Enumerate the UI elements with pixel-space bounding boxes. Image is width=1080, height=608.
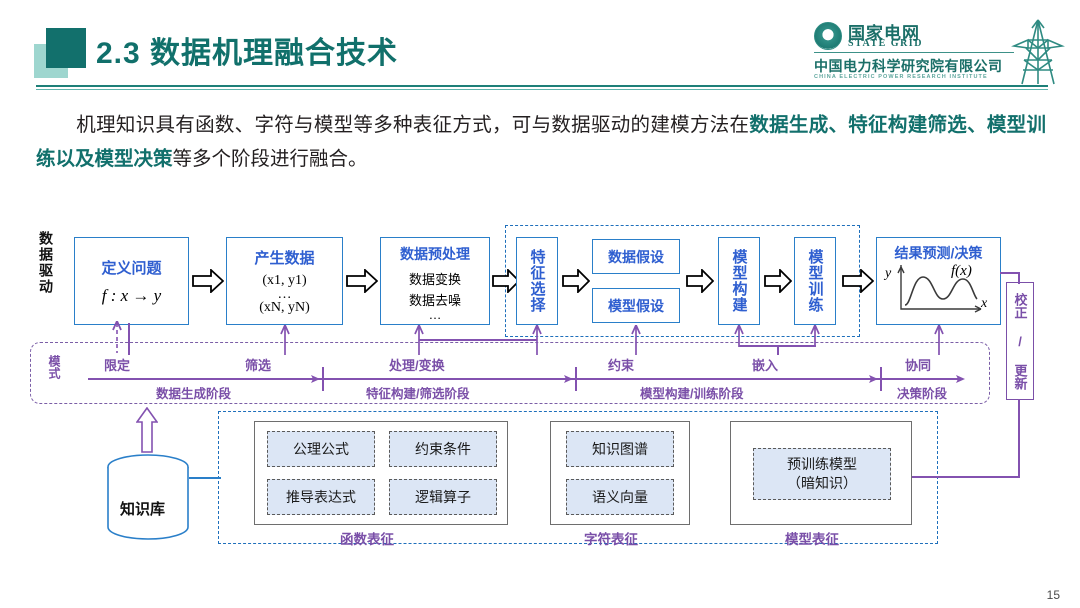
body-text-2: 等多个阶段进行融合。 bbox=[173, 148, 368, 170]
pipeline-box-define-problem[interactable]: 定义问题 f : x → y bbox=[74, 237, 189, 325]
stage-tick-3 bbox=[880, 367, 882, 391]
body-paragraph: 机理知识具有函数、字符与模型等多种表征方式，可与数据驱动的建模方法在数据生成、特… bbox=[36, 108, 1046, 176]
stage-tick-arrow-1 bbox=[307, 372, 321, 386]
knowledge-group-caption: 函数表征 bbox=[340, 528, 394, 548]
knowledge-group-function: 公理公式 约束条件 推导表达式 逻辑算子 bbox=[254, 421, 508, 525]
box-title: 产生数据 bbox=[254, 247, 314, 268]
chart-y-axis-label: y bbox=[885, 266, 891, 282]
title-accent-square-front bbox=[46, 28, 86, 68]
logo-org-en: CHINA ELECTRIC POWER RESEARCH INSTITUTE bbox=[814, 74, 988, 80]
mode-label: 模式 bbox=[46, 355, 63, 393]
body-text-1: 机理知识具有函数、字符与模型等多种表征方式，可与数据驱动的建模方法在 bbox=[76, 114, 749, 136]
title-divider-thin bbox=[36, 89, 1048, 90]
box-line-2: 数据去噪 bbox=[409, 290, 461, 309]
knowledge-group-symbol: 知识图谱 语义向量 bbox=[550, 421, 690, 525]
box-title: 结果预测/决策 bbox=[895, 245, 983, 261]
knowledge-group-caption: 模型表征 bbox=[785, 528, 839, 548]
pipeline-box-model-train[interactable]: 模型训练 bbox=[794, 237, 836, 325]
corporate-logo: 国家电网 STATE GRID 中国电力科学研究院有限公司 CHINA ELEC… bbox=[802, 20, 1072, 86]
pipeline-box-feature-selection[interactable]: 特征选择 bbox=[516, 237, 558, 325]
fusion-flow-diagram: 数据驱动 定义问题 f : x → y 产生数据 (x1, y1) … (xN,… bbox=[0, 215, 1080, 555]
flow-arrow-5 bbox=[686, 269, 714, 293]
pipeline-box-model-build[interactable]: 模型构建 bbox=[718, 237, 760, 325]
mode-action-1: 筛选 bbox=[245, 355, 271, 374]
pipeline-box-data-hypothesis[interactable]: 数据假设 bbox=[592, 239, 680, 274]
mode-arrow-generate-data bbox=[278, 325, 292, 355]
flow-arrow-6 bbox=[764, 269, 792, 293]
stage-tick-arrow-2 bbox=[560, 372, 574, 386]
feedback-label: 校正 / 更新 bbox=[1011, 293, 1030, 390]
stage-tick-arrow-3 bbox=[865, 372, 879, 386]
transmission-tower-icon bbox=[1010, 16, 1066, 88]
knowledge-item[interactable]: 约束条件 bbox=[389, 431, 497, 467]
knowledge-item[interactable]: 逻辑算子 bbox=[389, 479, 497, 515]
box-line-2: … bbox=[278, 290, 292, 299]
knowledge-to-pipeline-arrow bbox=[136, 407, 158, 453]
feedback-line-bottom-v bbox=[1018, 399, 1020, 477]
box-title: 数据预处理 bbox=[400, 244, 470, 264]
knowledge-store-connector bbox=[189, 477, 221, 479]
mode-stage-1: 特征构建/筛选阶段 bbox=[366, 383, 469, 402]
box-title: 模型构建 bbox=[729, 249, 750, 313]
logo-org-cn: 中国电力科学研究院有限公司 bbox=[814, 56, 1003, 76]
page-number: 15 bbox=[1047, 588, 1060, 602]
knowledge-item[interactable]: 公理公式 bbox=[267, 431, 375, 467]
flow-arrow-4 bbox=[562, 269, 590, 293]
mode-action-5: 协同 bbox=[905, 355, 931, 374]
mode-stage-3: 决策阶段 bbox=[897, 383, 947, 402]
box-title: 特征选择 bbox=[527, 249, 548, 313]
feedback-box-correct-update[interactable]: 校正 / 更新 bbox=[1006, 282, 1034, 400]
mode-arrow-define-problem bbox=[110, 321, 124, 353]
mode-stem-define bbox=[128, 323, 130, 355]
mode-action-3: 约束 bbox=[608, 355, 634, 374]
mode-action-2: 处理/变换 bbox=[389, 355, 445, 374]
knowledge-item[interactable]: 推导表达式 bbox=[267, 479, 375, 515]
knowledge-group-model: 预训练模型 （暗知识） bbox=[730, 421, 912, 525]
knowledge-item[interactable]: 语义向量 bbox=[566, 479, 674, 515]
pipeline-box-preprocess[interactable]: 数据预处理 数据变换 数据去噪 … bbox=[380, 237, 490, 325]
pipeline-box-prediction-decision[interactable]: 结果预测/决策 y f(x) x bbox=[876, 237, 1001, 325]
box-formula: f : x → y bbox=[102, 286, 161, 306]
body-highlight-1: 数据生成、特征构建 bbox=[749, 114, 927, 136]
feedback-line-bottom-h bbox=[905, 476, 1020, 478]
mode-stage-0: 数据生成阶段 bbox=[156, 383, 231, 402]
prediction-curve-chart bbox=[897, 265, 985, 317]
box-line-3: … bbox=[429, 311, 442, 319]
flow-arrow-7 bbox=[842, 269, 874, 293]
mode-arrow-hypothesis bbox=[629, 325, 643, 355]
knowledge-item[interactable]: 预训练模型 （暗知识） bbox=[753, 448, 891, 500]
mode-action-0: 限定 bbox=[104, 355, 130, 374]
mode-stem-embed bbox=[777, 345, 779, 355]
data-driven-label: 数据驱动 bbox=[36, 231, 56, 327]
box-title: 定义问题 bbox=[101, 257, 161, 278]
mode-action-4: 嵌入 bbox=[752, 355, 778, 374]
mode-link-preprocess-feature-h bbox=[419, 339, 537, 341]
mode-stage-2: 模型构建/训练阶段 bbox=[640, 383, 743, 402]
knowledge-store-label: 知识库 bbox=[120, 498, 165, 519]
box-title: 模型假设 bbox=[608, 296, 664, 316]
logo-en-name: STATE GRID bbox=[848, 38, 923, 49]
stage-tick-1 bbox=[322, 367, 324, 391]
state-grid-emblem-icon bbox=[814, 22, 842, 50]
stage-axis-arrowhead bbox=[952, 372, 966, 386]
stage-axis-line bbox=[88, 378, 958, 380]
stage-tick-2 bbox=[575, 367, 577, 391]
mode-arrow-model-train bbox=[808, 325, 822, 347]
box-title: 模型训练 bbox=[805, 249, 826, 313]
slide: 2.3 数据机理融合技术 国家电网 STATE GRID 中国电力科学研究院有限… bbox=[0, 0, 1080, 608]
knowledge-item[interactable]: 知识图谱 bbox=[566, 431, 674, 467]
page-title: 2.3 数据机理融合技术 bbox=[96, 28, 398, 72]
mode-arrow-prediction bbox=[932, 325, 946, 355]
box-line-3: (xN, yN) bbox=[259, 300, 310, 316]
pipeline-box-generate-data[interactable]: 产生数据 (x1, y1) … (xN, yN) bbox=[226, 237, 343, 325]
feedback-line-top-h bbox=[1000, 272, 1020, 274]
logo-separator bbox=[814, 52, 1014, 53]
box-title: 数据假设 bbox=[608, 247, 664, 267]
flow-arrow-2 bbox=[346, 269, 378, 293]
mode-arrow-model-build bbox=[732, 325, 746, 347]
box-line-1: 数据变换 bbox=[409, 269, 461, 288]
pipeline-box-model-hypothesis[interactable]: 模型假设 bbox=[592, 288, 680, 323]
knowledge-group-caption: 字符表征 bbox=[584, 528, 638, 548]
feedback-line-top-v bbox=[1018, 272, 1020, 284]
flow-arrow-1 bbox=[192, 269, 224, 293]
